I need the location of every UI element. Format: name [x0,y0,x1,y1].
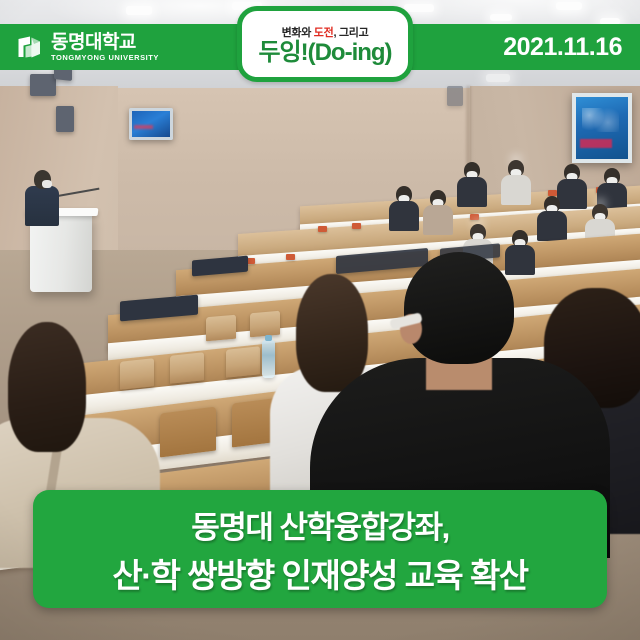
ceiling-light [556,2,582,10]
desk-marker [470,214,479,220]
brand-logo[interactable]: 동명대학교 TONGMYONG UNIVERSITY [14,28,159,66]
badge-tagline-prefix: 변화와 [282,27,314,39]
face-mask-icon [42,180,52,188]
desk-marker [352,223,361,229]
chair-back [226,346,260,378]
student-torso [557,179,587,209]
attendee-hair [8,322,86,452]
caption-banner: 동명대 산학융합강좌, 산·학 쌍방향 인재양성 교육 확산 [33,490,607,608]
wall-speaker-icon [447,86,463,106]
ceiling-light [126,6,152,15]
desk-marker [286,254,295,260]
brand-text: 동명대학교 TONGMYONG UNIVERSITY [51,32,159,62]
social-card: 동명대학교 TONGMYONG UNIVERSITY 변화와 도전, 그리고 두… [0,0,640,640]
wall-mounted-display-icon [572,93,632,163]
presenter-body [25,186,59,226]
caption-line-1: 동명대 산학융합강좌, [191,502,448,547]
badge-title: 두잉!(Do-ing) [258,41,391,65]
water-bottle [262,340,275,378]
ceiling-light [486,74,510,82]
chair-back [170,352,204,384]
desk-marker [318,226,327,232]
chair-back [160,407,216,458]
student-torso [537,211,567,241]
student-torso [423,205,453,235]
caption-line-2: 산·학 쌍방향 인재양성 교육 확산 [112,549,527,597]
wall-speaker-icon [30,74,56,96]
badge-tagline-highlight: 도전 [314,27,334,39]
chair-back [206,315,236,342]
badge-tagline-suffix: , 그리고 [333,27,368,39]
attendee-head [404,252,514,364]
ceiling-light [490,14,512,21]
badge-tagline: 변화와 도전, 그리고 [282,24,369,40]
foreground-attendee-front [352,252,622,512]
student-torso [389,201,419,231]
date-text: 2021.11.16 [503,33,622,62]
brand-name-en: TONGMYONG UNIVERSITY [51,54,159,62]
student-torso [457,177,487,207]
wall-speaker-icon [56,106,74,132]
university-emblem-icon [14,32,44,62]
student-torso [501,175,531,205]
wall-mounted-monitor-icon [129,108,173,140]
date-badge: 2021.11.16 [458,24,640,70]
ceiling-light [404,4,434,12]
doing-badge[interactable]: 변화와 도전, 그리고 두잉!(Do-ing) [237,6,413,82]
brand-name-ko: 동명대학교 [51,33,159,52]
